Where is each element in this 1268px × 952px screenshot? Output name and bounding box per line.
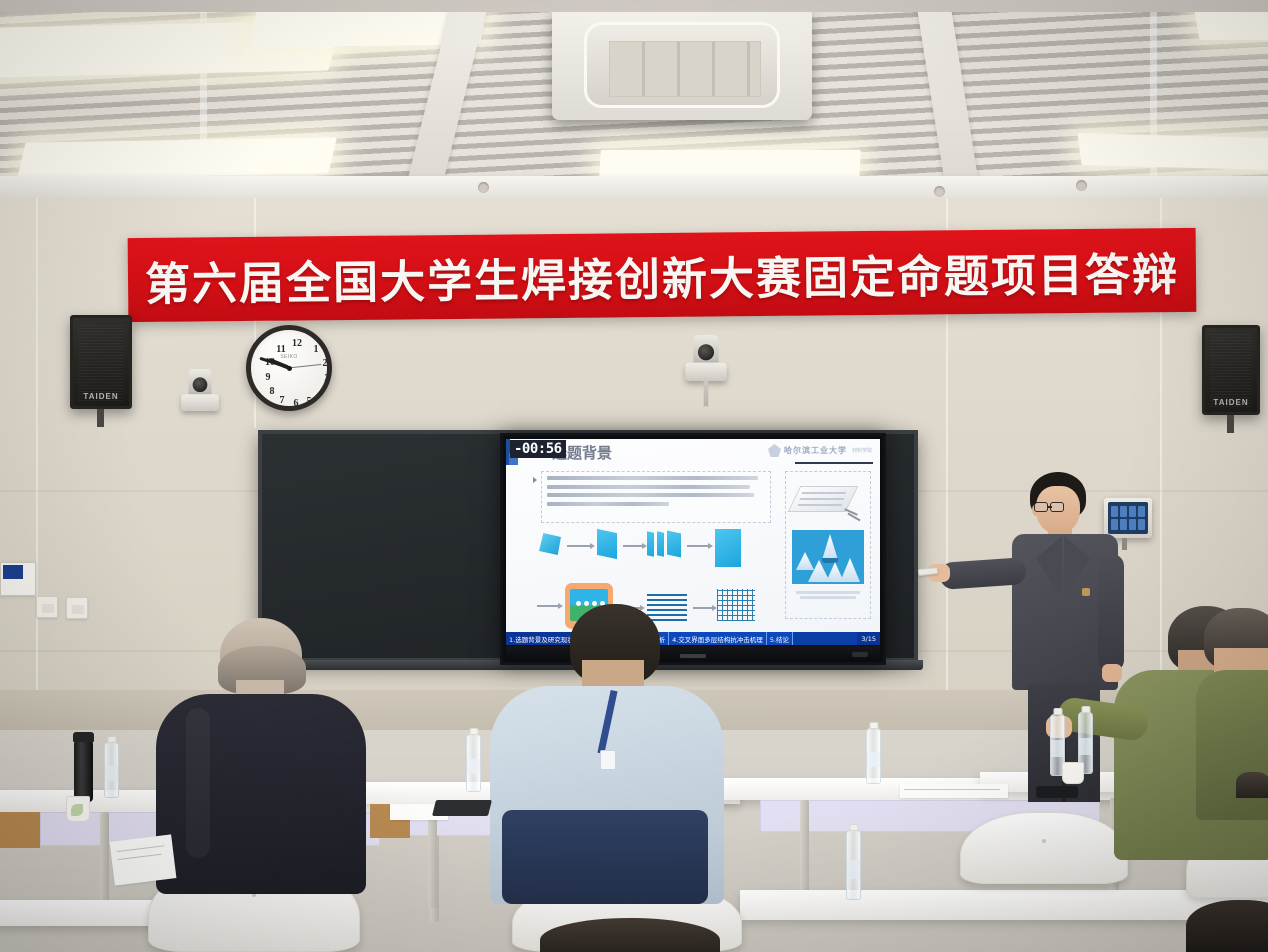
slide-page-indicator: 3/15	[857, 632, 880, 645]
flow-node-layer	[647, 531, 654, 556]
judge-front-left	[150, 618, 370, 888]
speaker-brand-label: TAIDEN	[1213, 398, 1248, 407]
chair[interactable]	[960, 812, 1128, 884]
ptz-camera-center	[685, 335, 726, 381]
clock-numeral: 5	[302, 396, 316, 407]
slide-header: 选题背景 -00:56 哈尔滨工业大学 材料学院	[506, 439, 880, 465]
conference-room-scene: 第六届全国大学生焊接创新大赛固定命题项目答辩 12 1 2 3 4 5 6 7 …	[0, 0, 1268, 952]
light-switch[interactable]	[66, 597, 88, 619]
flow-node-layer	[657, 531, 664, 556]
nav-item-5[interactable]: 5.结论	[767, 632, 793, 645]
university-logo: 哈尔滨工业大学 材料学院	[768, 444, 872, 457]
wall-speaker-left: TAIDEN	[70, 315, 132, 409]
technical-drawing	[792, 480, 864, 522]
wall-clock: 12 1 2 3 4 5 6 7 8 9 10 11 SEIKO	[246, 325, 332, 411]
lapel-pin	[1082, 588, 1090, 596]
foreground-head	[1236, 772, 1268, 798]
speaker-brand-label: TAIDEN	[83, 392, 118, 401]
experiment-photo	[792, 530, 864, 584]
ceiling-air-conditioner	[552, 8, 812, 120]
clock-numeral: 1	[309, 344, 323, 355]
flow-node-layer	[667, 531, 681, 558]
trousers	[502, 810, 708, 904]
wall-notice-sign	[0, 562, 36, 596]
logo-mark-icon	[768, 444, 781, 457]
ceiling-light-panel	[1077, 133, 1268, 171]
thermos-flask[interactable]	[74, 740, 93, 802]
flow-node-stack	[715, 529, 741, 567]
banner-title: 第六届全国大学生焊接创新大赛固定命题项目答辩	[145, 238, 1180, 313]
clock-numeral: 8	[265, 386, 279, 397]
water-bottle[interactable]	[846, 830, 861, 900]
paper-cup[interactable]	[66, 796, 90, 822]
water-bottle[interactable]	[866, 728, 881, 784]
ptz-camera-left	[181, 369, 219, 411]
slide-body	[513, 467, 873, 621]
water-bottle[interactable]	[104, 742, 119, 798]
ceiling	[0, 0, 1268, 215]
nav-label: 5.结论	[770, 634, 789, 644]
clock-numeral: 9	[261, 372, 275, 383]
paper-cup[interactable]	[1062, 762, 1084, 784]
clock-numeral: 12	[290, 338, 304, 349]
flow-node-powder	[539, 533, 561, 555]
countdown-timer: -00:56	[510, 440, 566, 458]
clock-numeral: 6	[289, 398, 303, 409]
bullet-icon	[533, 477, 537, 483]
judge-center	[486, 604, 726, 904]
clock-numeral: 3	[320, 373, 334, 384]
score-sheet[interactable]	[900, 784, 1008, 798]
clock-numeral: 4	[314, 387, 328, 398]
logo-subtext: 材料学院	[852, 447, 872, 454]
clock-brand-label: SEIKO	[280, 354, 297, 360]
ir-receiver-icon	[852, 652, 868, 657]
wall-speaker-right: TAIDEN	[1202, 325, 1260, 415]
paper-document[interactable]	[110, 834, 177, 885]
closed-laptop[interactable]	[432, 800, 492, 816]
foreground-head	[1186, 900, 1268, 952]
name-badge	[600, 750, 616, 770]
event-banner: 第六届全国大学生焊接创新大赛固定命题项目答辩	[128, 228, 1197, 322]
light-switch[interactable]	[36, 596, 58, 618]
slide-right-panel	[785, 471, 871, 619]
water-bottle[interactable]	[466, 734, 481, 792]
logo-text: 哈尔滨工业大学	[784, 445, 847, 456]
ceiling-light-panel	[17, 137, 337, 178]
smartphone[interactable]	[1036, 786, 1078, 798]
flow-node-sheet	[597, 529, 617, 559]
clock-second-hand	[289, 364, 322, 369]
slide-text-block	[541, 471, 771, 523]
